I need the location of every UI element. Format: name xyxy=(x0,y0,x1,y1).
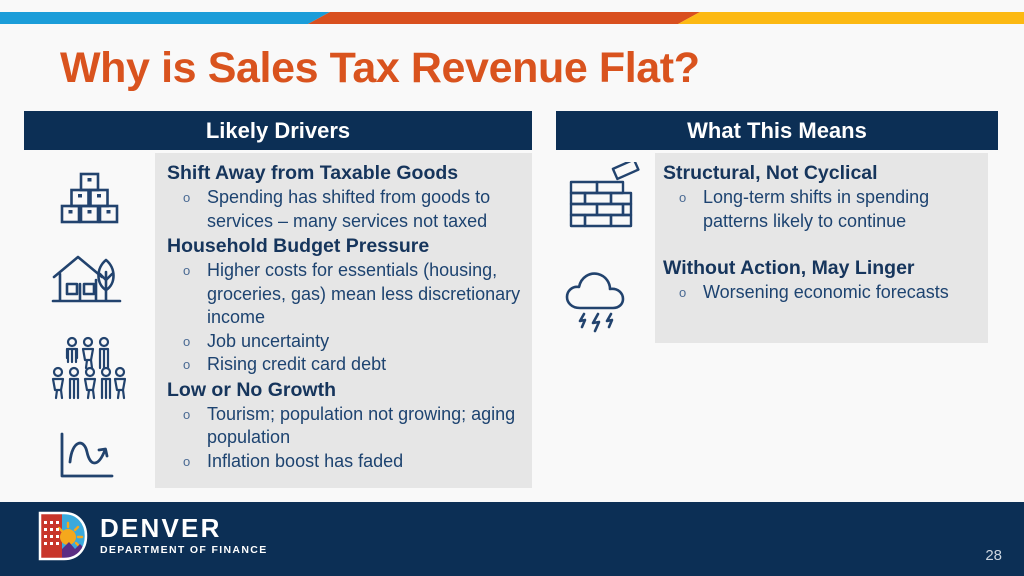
denver-logo-text: DENVER DEPARTMENT OF FINANCE xyxy=(100,515,268,557)
bullet-list: o Worsening economic forecasts xyxy=(663,281,988,305)
list-item-text: Spending has shifted from goods to servi… xyxy=(207,187,490,231)
list-item: o Tourism; population not growing; aging… xyxy=(167,403,527,450)
list-item: o Higher costs for essentials (housing, … xyxy=(167,259,527,330)
column-header-label: What This Means xyxy=(687,118,867,144)
bullet-list: o Higher costs for essentials (housing, … xyxy=(167,259,527,377)
slide: Why is Sales Tax Revenue Flat? Likely Dr… xyxy=(0,0,1024,576)
line-chart-arrow-icon xyxy=(56,430,118,485)
storm-cloud-icon xyxy=(564,268,636,334)
bullet-list: o Long-term shifts in spending patterns … xyxy=(663,186,988,233)
bullet-marker: o xyxy=(183,330,190,354)
accent-segment-orange xyxy=(308,12,700,24)
accent-segment-blue xyxy=(0,12,330,24)
bullet-marker: o xyxy=(679,186,686,210)
denver-logo-mark xyxy=(38,511,88,561)
text-column-what-this-means: Structural, Not Cyclical o Long-term shi… xyxy=(663,160,988,305)
list-item-text: Rising credit card debt xyxy=(207,354,386,374)
bullet-marker: o xyxy=(183,450,190,474)
list-item-text: Inflation boost has faded xyxy=(207,451,403,471)
column-header-label: Likely Drivers xyxy=(206,118,350,144)
bullet-marker: o xyxy=(183,403,190,427)
logo-name: DENVER xyxy=(100,515,268,542)
text-column-likely-drivers: Shift Away from Taxable Goods o Spending… xyxy=(167,160,527,473)
accent-segment-yellow xyxy=(678,12,1024,24)
group-heading: Structural, Not Cyclical xyxy=(663,160,988,186)
list-item: o Worsening economic forecasts xyxy=(663,281,988,305)
bullet-marker: o xyxy=(183,259,190,283)
logo-subtitle: DEPARTMENT OF FINANCE xyxy=(100,543,268,557)
list-item-text: Worsening economic forecasts xyxy=(703,282,949,302)
group-heading: Without Action, May Linger xyxy=(663,255,988,281)
boxes-stack-icon xyxy=(58,168,120,230)
list-item-text: Job uncertainty xyxy=(207,331,329,351)
list-item-text: Higher costs for essentials (housing, gr… xyxy=(207,260,520,327)
list-item: o Spending has shifted from goods to ser… xyxy=(167,186,527,233)
paragraph-spacer xyxy=(663,233,988,255)
denver-logo: DENVER DEPARTMENT OF FINANCE xyxy=(38,511,268,561)
bullet-marker: o xyxy=(183,186,190,210)
bullet-marker: o xyxy=(183,353,190,377)
list-item-text: Tourism; population not growing; aging p… xyxy=(207,404,515,448)
house-tree-icon xyxy=(50,252,124,312)
group-heading: Shift Away from Taxable Goods xyxy=(167,160,527,186)
list-item: o Rising credit card debt xyxy=(167,353,527,377)
bullet-list: o Tourism; population not growing; aging… xyxy=(167,403,527,474)
list-item: o Long-term shifts in spending patterns … xyxy=(663,186,988,233)
brick-wall-icon xyxy=(566,162,642,228)
page-title: Why is Sales Tax Revenue Flat? xyxy=(60,44,700,93)
page-number: 28 xyxy=(985,547,1002,564)
list-item: o Job uncertainty xyxy=(167,330,527,354)
top-accent-bar xyxy=(0,12,1024,24)
column-header-what-this-means: What This Means xyxy=(556,111,998,150)
group-heading: Household Budget Pressure xyxy=(167,233,527,259)
list-item-text: Long-term shifts in spending patterns li… xyxy=(703,187,929,231)
list-item: o Inflation boost has faded xyxy=(167,450,527,474)
people-group-icon xyxy=(50,336,126,402)
group-heading: Low or No Growth xyxy=(167,377,527,403)
bullet-list: o Spending has shifted from goods to ser… xyxy=(167,186,527,233)
bullet-marker: o xyxy=(679,281,686,305)
column-header-likely-drivers: Likely Drivers xyxy=(24,111,532,150)
